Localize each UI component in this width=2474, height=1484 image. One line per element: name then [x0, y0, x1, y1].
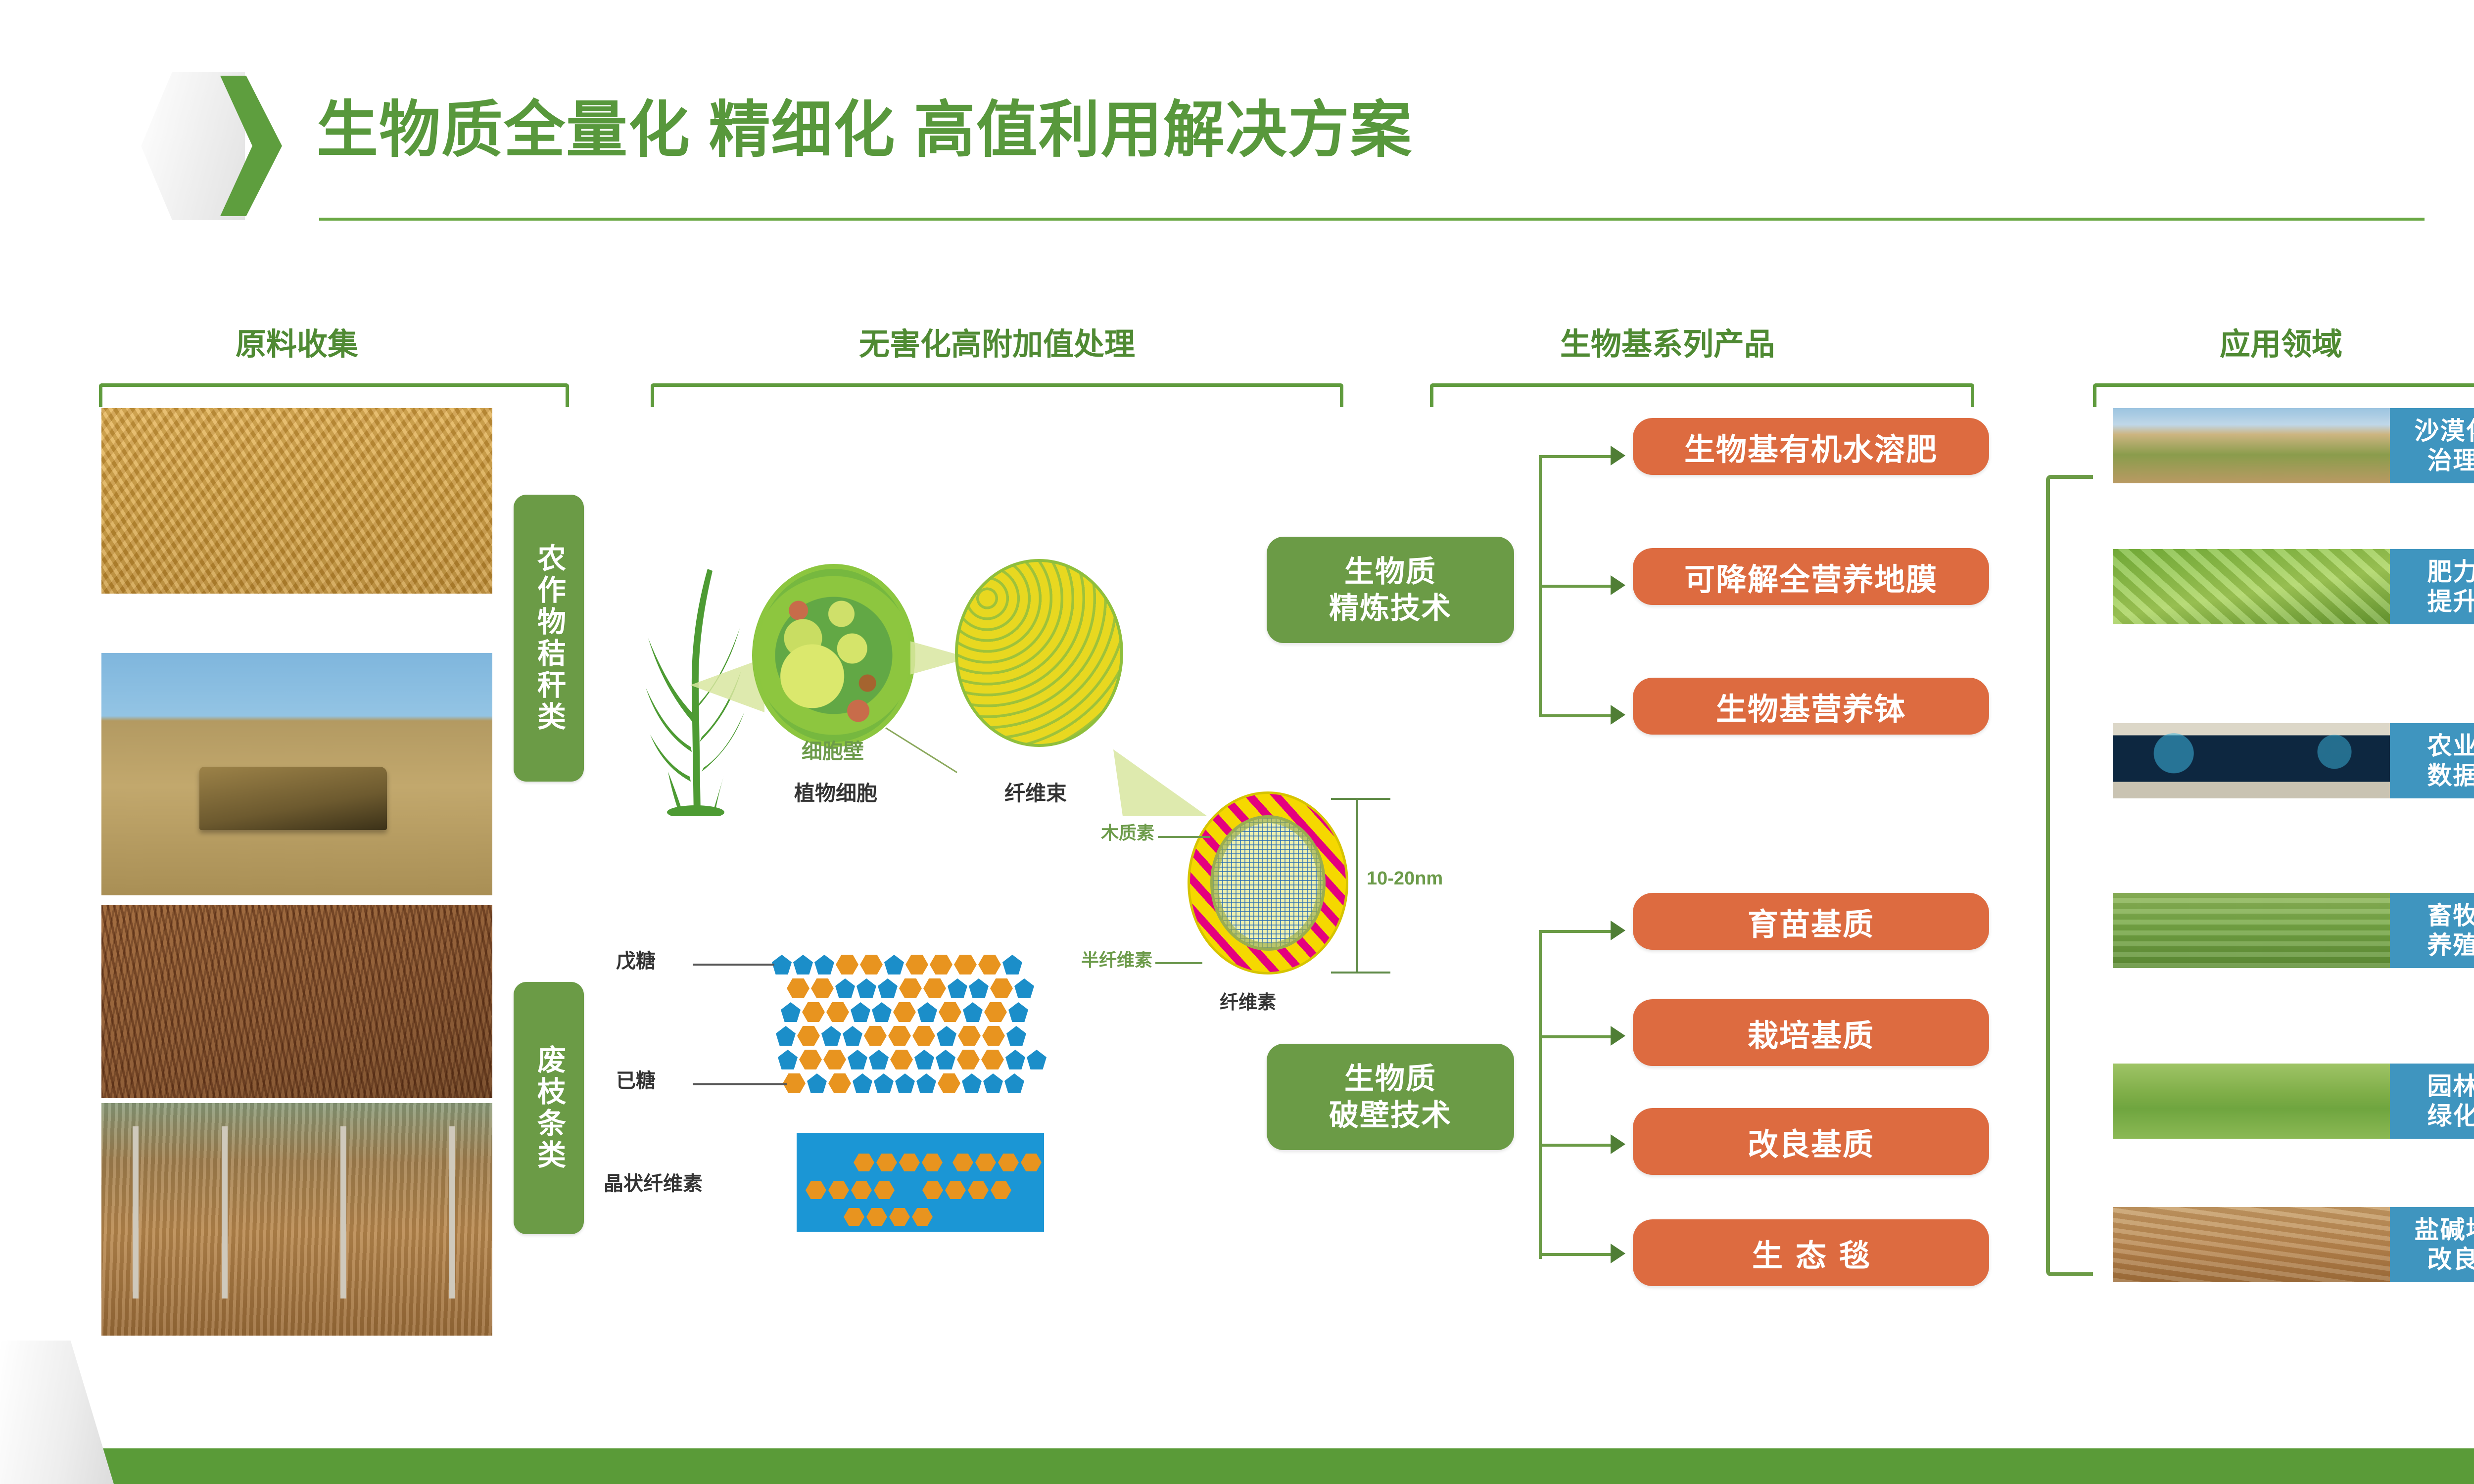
app-label-line2: 绿化: [2427, 1101, 2474, 1131]
zoom-cone-fiber-to-cross-section: [1113, 727, 1207, 816]
leader-line-lignin: [1158, 836, 1210, 838]
tech-box-wall-breaking[interactable]: 生物质 破壁技术: [1267, 1044, 1514, 1150]
column-header-collection: 原料收集: [190, 319, 403, 364]
product-label: 栽培基质: [1748, 1011, 1874, 1055]
arrow-wallbreak-3: [1611, 1134, 1625, 1154]
application-row-saline-soil[interactable]: 盐碱地 改良: [2113, 1207, 2474, 1282]
application-row-landscaping[interactable]: 园林 绿化: [2113, 1064, 2474, 1139]
application-label-fertility: 肥力 提升: [2390, 549, 2474, 624]
connector-branch-wallbreak-2: [1539, 1035, 1613, 1038]
product-label: 生物基有机水溶肥: [1684, 424, 1938, 469]
label-cell-wall: 细胞壁: [802, 735, 864, 765]
connector-branch-wallbreak-4: [1539, 1253, 1613, 1256]
application-row-agri-data[interactable]: 农业 数据: [2113, 723, 2474, 798]
label-fiber-bundle: 纤维束: [1004, 777, 1067, 807]
label-dimension: 10-20nm: [1367, 868, 1443, 889]
bracket-collection: [99, 383, 569, 407]
label-hexose: 已糖: [616, 1065, 656, 1093]
application-row-desert[interactable]: 沙漠化 治理: [2113, 408, 2474, 483]
photo-orchard-collection: [101, 1103, 492, 1336]
product-box-improvement-substrate[interactable]: 改良基质: [1633, 1108, 1989, 1175]
label-plant-cell: 植物细胞: [794, 777, 877, 807]
label-pentose: 戊糖: [616, 945, 656, 974]
label-cellulose: 纤维素: [1220, 987, 1276, 1014]
leader-line-hexose: [693, 1083, 787, 1085]
leader-line-hemicellulose: [1155, 962, 1202, 964]
app-label-line1: 沙漠化: [2415, 416, 2474, 446]
application-label-livestock: 畜牧 养殖: [2390, 893, 2474, 968]
product-box-degradable-mulch-film[interactable]: 可降解全营养地膜: [1633, 548, 1989, 605]
product-label: 改良基质: [1748, 1119, 1874, 1164]
product-box-ecological-blanket[interactable]: 生态毯: [1633, 1219, 1989, 1286]
footer-wedge-decoration: [0, 1341, 114, 1484]
title-underline-rule: [319, 218, 2425, 221]
sugar-chain-diagram: [772, 955, 1118, 1113]
application-row-fertility[interactable]: 肥力 提升: [2113, 549, 2474, 624]
tech-wallbreak-line2: 破壁技术: [1329, 1097, 1452, 1133]
photo-sheep-grazing: [2113, 893, 2390, 968]
photo-branches: [101, 905, 492, 1098]
bracket-products: [1430, 383, 1974, 407]
bracket-processing: [651, 383, 1343, 407]
photo-park-lawn: [2113, 1064, 2390, 1139]
arrow-refining-3: [1611, 705, 1625, 725]
connector-branch-wallbreak-3: [1539, 1144, 1613, 1147]
photo-corn-stover: [101, 408, 492, 594]
app-label-line2: 养殖: [2427, 930, 2474, 960]
infographic-page: 生物质全量化 精细化 高值利用解决方案 原料收集 无害化高附加值处理 生物基系列…: [0, 0, 2474, 1484]
connector-trunk-wallbreak: [1539, 930, 1542, 1259]
label-crystalline-cellulose: 晶状纤维素: [604, 1167, 703, 1196]
connector-branch-refining-1: [1539, 455, 1613, 458]
hexagon-logo-badge: [141, 72, 280, 220]
application-label-saline-soil: 盐碱地 改良: [2390, 1207, 2474, 1282]
application-label-agri-data: 农业 数据: [2390, 723, 2474, 798]
app-label-line1: 园林: [2427, 1071, 2474, 1101]
product-label: 生物基营养钵: [1716, 684, 1906, 729]
crystalline-cellulose-illustration: [797, 1133, 1044, 1232]
app-label-line2: 改良: [2415, 1245, 2474, 1274]
photo-saline-alkali-soil: [2113, 1207, 2390, 1282]
column-header-processing: 无害化高附加值处理: [737, 319, 1257, 364]
tech-refining-line2: 精炼技术: [1329, 590, 1452, 626]
dimension-tick-top: [1331, 798, 1390, 800]
photo-straw-bale: [101, 653, 492, 895]
footer-bar: [0, 1448, 2474, 1484]
arrow-wallbreak-4: [1611, 1244, 1625, 1263]
plant-cell-illustration: [752, 564, 915, 747]
product-box-cultivation-substrate[interactable]: 栽培基质: [1633, 999, 1989, 1066]
bracket-applications: [2093, 383, 2474, 407]
tech-box-biomass-refining[interactable]: 生物质 精炼技术: [1267, 537, 1514, 643]
application-label-desert: 沙漠化 治理: [2390, 408, 2474, 483]
connector-branch-refining-2: [1539, 585, 1613, 588]
photo-data-control-room: [2113, 723, 2390, 798]
bracket-applications-side: [2046, 475, 2093, 1276]
product-box-water-soluble-fertilizer[interactable]: 生物基有机水溶肥: [1633, 418, 1989, 475]
application-row-livestock[interactable]: 畜牧 养殖: [2113, 893, 2474, 968]
dimension-tick-bottom: [1331, 972, 1390, 974]
fiber-cross-section-illustration: [1188, 791, 1348, 974]
app-label-line2: 提升: [2427, 587, 2474, 616]
dimension-line: [1356, 798, 1358, 974]
feedstock-tag-crop-straw: 农作物秸秆类: [514, 495, 584, 782]
leader-line-cell-wall: [885, 727, 957, 773]
product-label: 可降解全营养地膜: [1684, 555, 1938, 599]
column-header-applications: 应用领域: [2123, 319, 2439, 364]
product-box-nutrition-pot[interactable]: 生物基营养钵: [1633, 678, 1989, 735]
product-label: 育苗基质: [1748, 899, 1874, 944]
app-label-line2: 治理: [2415, 446, 2474, 475]
connector-branch-refining-3: [1539, 714, 1613, 717]
application-label-landscaping: 园林 绿化: [2390, 1064, 2474, 1139]
app-label-line1: 肥力: [2427, 557, 2474, 587]
app-label-line1: 盐碱地: [2415, 1215, 2474, 1245]
tech-refining-line1: 生物质: [1329, 554, 1452, 590]
arrow-wallbreak-2: [1611, 1026, 1625, 1046]
connector-branch-wallbreak-1: [1539, 930, 1613, 933]
leader-line-pentose: [693, 964, 774, 966]
tech-wallbreak-line1: 生物质: [1329, 1061, 1452, 1097]
app-label-line1: 农业: [2427, 731, 2474, 761]
photo-cabbage-field: [2113, 549, 2390, 624]
app-label-line1: 畜牧: [2427, 901, 2474, 930]
page-title: 生物质全量化 精细化 高值利用解决方案: [317, 96, 1413, 164]
product-box-seedling-substrate[interactable]: 育苗基质: [1633, 893, 1989, 950]
cellulose-core: [1210, 815, 1326, 951]
product-label: 生态毯: [1739, 1231, 1883, 1275]
arrow-wallbreak-1: [1611, 921, 1625, 940]
app-label-line2: 数据: [2427, 761, 2474, 790]
feedstock-tag-waste-branches: 废枝条类: [514, 982, 584, 1234]
label-lignin: 木质素: [1101, 819, 1154, 844]
arrow-refining-2: [1611, 575, 1625, 595]
photo-desert-control: [2113, 408, 2390, 483]
column-header-products: 生物基系列产品: [1445, 319, 1890, 364]
arrow-refining-1: [1611, 446, 1625, 465]
fiber-bundle-illustration: [955, 559, 1123, 747]
